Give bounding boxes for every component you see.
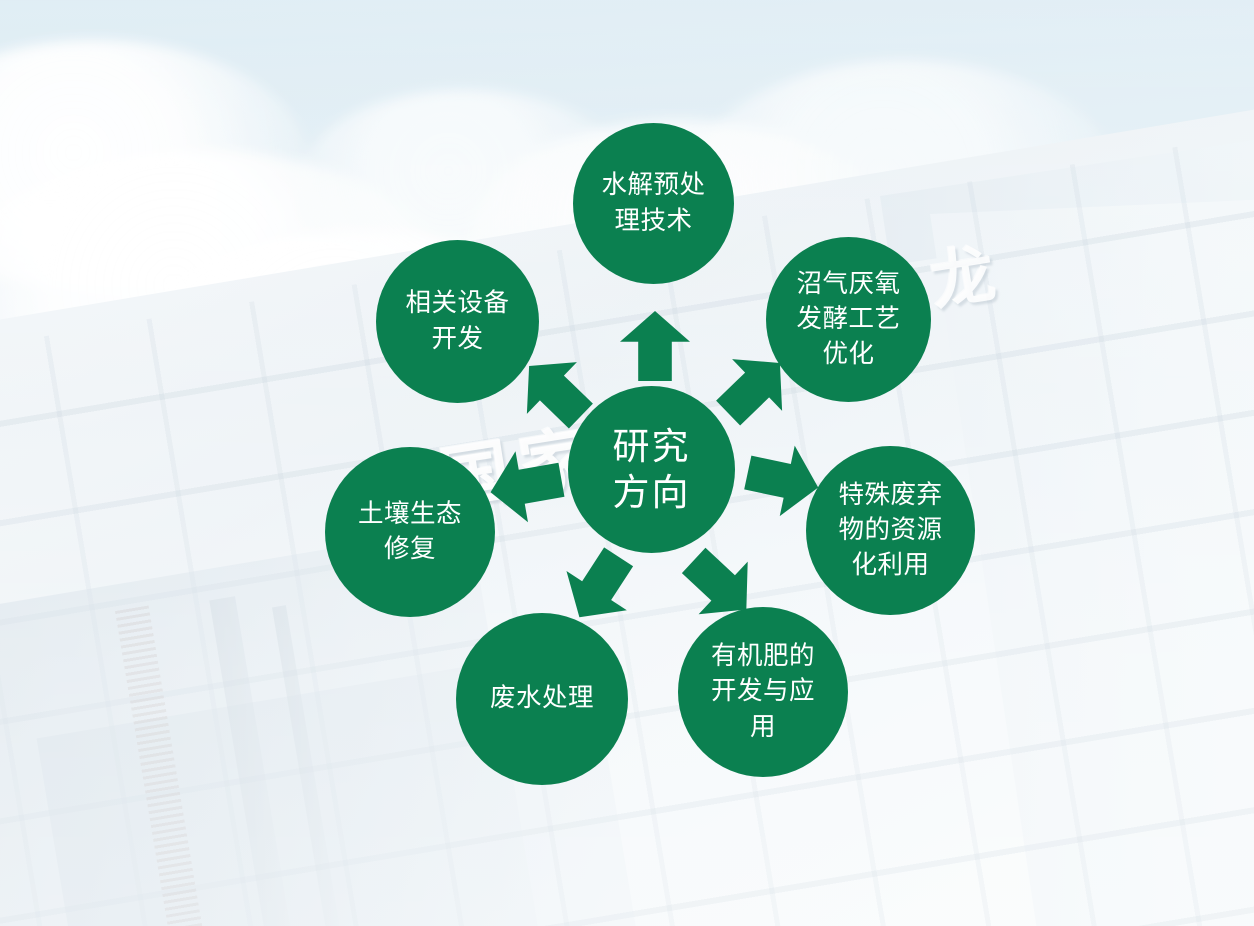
node-label: 特殊废弃 物的资源 化利用 <box>828 478 952 584</box>
research-directions-diagram: 水解预处 理技术 沼气厌氧 发酵工艺 优化 特殊废弃 物的资源 化利用 有机肥的… <box>0 0 1254 926</box>
node-hydrolysis-pretreatment-technology[interactable]: 水解预处 理技术 <box>573 123 734 284</box>
node-label: 有机肥的 开发与应 用 <box>701 639 825 745</box>
node-label: 沼气厌氧 发酵工艺 优化 <box>786 267 910 373</box>
node-special-waste-resource-utilization[interactable]: 特殊废弃 物的资源 化利用 <box>806 446 975 615</box>
node-related-equipment-development[interactable]: 相关设备 开发 <box>376 240 539 403</box>
node-label: 水解预处 理技术 <box>591 168 715 238</box>
slide-canvas: 国家 院 龙 <box>0 0 1254 926</box>
center-node-label: 研究 方向 <box>603 424 701 514</box>
node-wastewater-treatment[interactable]: 废水处理 <box>456 613 628 785</box>
node-label: 土壤生态 修复 <box>348 497 472 567</box>
node-label: 相关设备 开发 <box>395 286 519 356</box>
node-soil-ecological-restoration[interactable]: 土壤生态 修复 <box>325 447 495 617</box>
node-label: 废水处理 <box>480 681 604 716</box>
arrow-left-icon <box>484 443 568 528</box>
node-biogas-anaerobic-fermentation-optimization[interactable]: 沼气厌氧 发酵工艺 优化 <box>766 237 931 402</box>
node-organic-fertilizer-development-application[interactable]: 有机肥的 开发与应 用 <box>678 607 848 777</box>
arrow-up-icon <box>620 310 690 382</box>
node-research-directions-center[interactable]: 研究 方向 <box>568 386 735 553</box>
